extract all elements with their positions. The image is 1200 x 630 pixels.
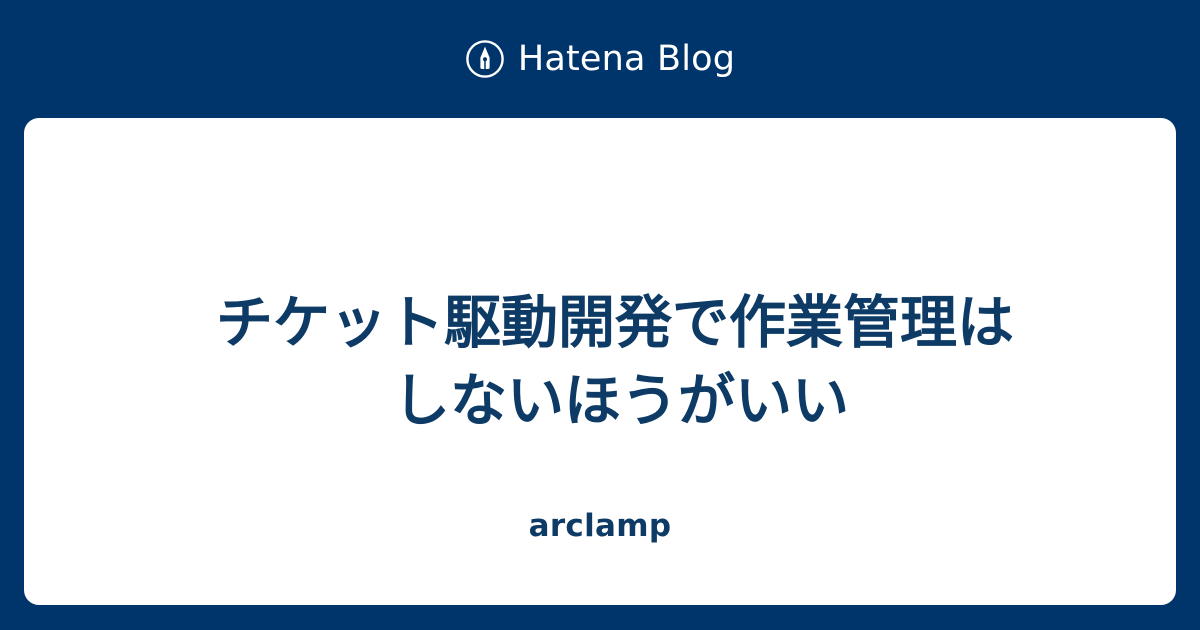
ogp-card-root: Hatena Blog チケット駆動開発で作業管理は しないほうがいい arcl… xyxy=(0,0,1200,630)
entry-card: チケット駆動開発で作業管理は しないほうがいい arclamp xyxy=(24,118,1176,605)
entry-title: チケット駆動開発で作業管理は しないほうがいい xyxy=(216,284,1046,440)
entry-card-content: チケット駆動開発で作業管理は しないほうがいい arclamp xyxy=(24,118,1176,605)
hatena-blog-header: Hatena Blog xyxy=(0,0,1200,118)
entry-title-line-2: しないほうがいい xyxy=(216,362,1046,440)
entry-title-line-1: チケット駆動開発で作業管理は xyxy=(216,284,1046,362)
brand-name-label: Hatena Blog xyxy=(518,42,735,77)
blog-name-label: arclamp xyxy=(24,506,1176,546)
pen-nib-in-circle-icon xyxy=(465,39,505,79)
brand-lockup: Hatena Blog xyxy=(465,36,735,82)
